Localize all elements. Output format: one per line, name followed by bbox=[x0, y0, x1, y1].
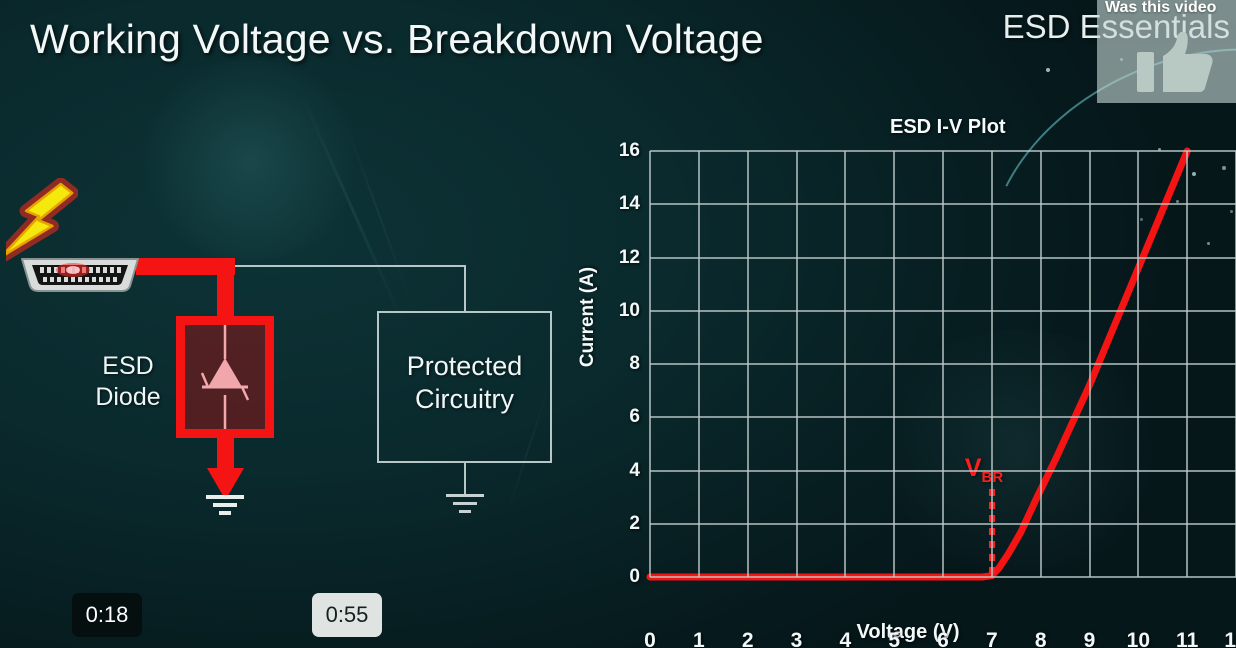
x-axis-tick-label: 3 bbox=[777, 629, 817, 648]
protected-circuitry-label: Protected Circuitry bbox=[377, 350, 552, 417]
x-axis-tick-label: 2 bbox=[728, 629, 768, 648]
y-axis-tick-label: 2 bbox=[596, 513, 640, 535]
y-axis-tick-label: 14 bbox=[596, 193, 640, 215]
gridline-horizontal bbox=[650, 576, 1236, 578]
ground-symbol-icon bbox=[200, 494, 250, 516]
signal-wire-vertical bbox=[464, 265, 466, 312]
x-axis-tick-label: 4 bbox=[825, 629, 865, 648]
surge-wire-vertical bbox=[217, 258, 234, 320]
y-axis-tick-label: 8 bbox=[596, 353, 640, 375]
gridline-horizontal bbox=[650, 416, 1236, 418]
timestamp-total[interactable]: 0:55 bbox=[312, 593, 382, 637]
x-axis-tick-label: 1 bbox=[679, 629, 719, 648]
survey-question-text: Was this video bbox=[1105, 0, 1216, 17]
x-axis-tick-label: 10 bbox=[1118, 629, 1158, 648]
chart-plot-area: VBR 02468101214160123456789101112 bbox=[650, 151, 1236, 577]
breakdown-voltage-symbol: V bbox=[965, 454, 982, 482]
thumbs-up-icon[interactable] bbox=[1137, 30, 1215, 96]
y-axis-tick-label: 16 bbox=[596, 140, 640, 162]
x-axis-tick-label: 11 bbox=[1167, 629, 1207, 648]
x-axis-tick-label: 8 bbox=[1021, 629, 1061, 648]
esd-iv-chart: ESD I-V Plot Current (A) Voltage (V) VBR… bbox=[580, 110, 1236, 648]
gridline-horizontal bbox=[650, 310, 1236, 312]
esd-diode-label-line2: Diode bbox=[86, 382, 170, 413]
y-axis-tick-label: 12 bbox=[596, 247, 640, 269]
x-axis-tick-label: 5 bbox=[874, 629, 914, 648]
gridline-horizontal bbox=[650, 203, 1236, 205]
esd-diode-label-line1: ESD bbox=[86, 351, 170, 382]
gridline-horizontal bbox=[650, 470, 1236, 472]
y-axis-tick-label: 0 bbox=[596, 566, 640, 588]
x-axis-tick-label: 12 bbox=[1216, 629, 1236, 648]
y-axis-tick-label: 4 bbox=[596, 460, 640, 482]
background-glow bbox=[130, 60, 370, 260]
gridline-horizontal bbox=[650, 150, 1236, 152]
protected-label-line2: Circuitry bbox=[377, 383, 552, 416]
signal-wire-horizontal bbox=[224, 265, 465, 267]
x-axis-tick-label: 6 bbox=[923, 629, 963, 648]
slide-canvas: Working Voltage vs. Breakdown Voltage ES… bbox=[0, 0, 1236, 648]
gridline-horizontal bbox=[650, 523, 1236, 525]
x-axis-tick-label: 7 bbox=[972, 629, 1012, 648]
esd-diode-box bbox=[176, 316, 274, 438]
esd-diode-label: ESD Diode bbox=[86, 351, 170, 412]
protected-label-line1: Protected bbox=[377, 350, 552, 383]
lightning-bolt-icon bbox=[6, 178, 78, 272]
protected-ground-wire bbox=[464, 463, 466, 495]
slide-title: Working Voltage vs. Breakdown Voltage bbox=[30, 16, 764, 63]
youtube-survey-overlay[interactable]: Was this video bbox=[1097, 0, 1236, 103]
x-axis-tick-label: 0 bbox=[630, 629, 670, 648]
y-axis-tick-label: 6 bbox=[596, 406, 640, 428]
chart-title: ESD I-V Plot bbox=[890, 116, 1006, 139]
x-axis-tick-label: 9 bbox=[1070, 629, 1110, 648]
background-dot bbox=[1046, 68, 1050, 72]
gridline-horizontal bbox=[650, 257, 1236, 259]
gridline-horizontal bbox=[650, 363, 1236, 365]
y-axis-tick-label: 10 bbox=[596, 300, 640, 322]
background-streak bbox=[344, 121, 411, 300]
background-streak bbox=[299, 91, 407, 330]
timestamp-current[interactable]: 0:18 bbox=[72, 593, 142, 637]
ground-symbol-icon bbox=[440, 493, 490, 515]
